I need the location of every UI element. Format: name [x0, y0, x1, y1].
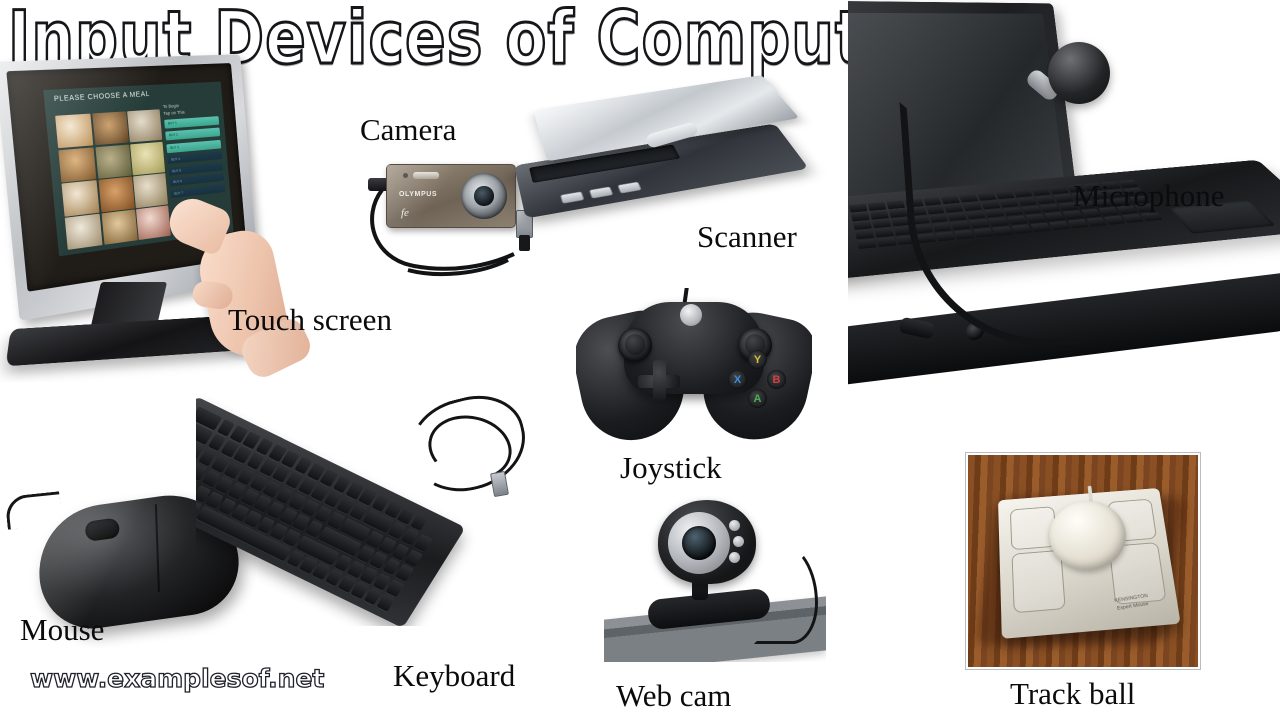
microphone-image [848, 0, 1280, 440]
webcam-led [733, 536, 744, 547]
webcam-led [729, 552, 740, 563]
trackball-button[interactable] [1012, 550, 1066, 613]
gamepad-guide-button[interactable] [680, 304, 702, 326]
track-ball-image: KENSINGTON Expert Mouse [965, 452, 1201, 670]
scanner-button-row[interactable] [560, 182, 642, 204]
kiosk-food-grid [56, 109, 171, 250]
dpad[interactable] [638, 360, 680, 402]
caption-joystick: Joystick [620, 450, 722, 486]
caption-scanner: Scanner [697, 219, 797, 255]
button-b[interactable]: B [767, 370, 786, 389]
button-x[interactable]: X [728, 370, 747, 389]
trackball-body: KENSINGTON Expert Mouse [998, 488, 1181, 639]
scanner-button[interactable] [617, 182, 642, 194]
kiosk-menu-button[interactable]: BUY 4 [167, 151, 222, 164]
caption-track-ball: Track ball [1010, 676, 1135, 712]
left-analog-stick[interactable] [618, 328, 652, 362]
web-cam-image [604, 496, 826, 662]
webcam-lens-ring [668, 512, 730, 574]
caption-keyboard: Keyboard [393, 658, 515, 694]
infographic-poster: Input Devices of Computer PLEASE CHOOSE … [0, 0, 1280, 720]
caption-camera: Camera [360, 112, 456, 148]
mouse-button-split [155, 504, 160, 592]
scroll-wheel[interactable] [84, 517, 120, 542]
webcam-head [658, 500, 756, 584]
caption-touch-screen: Touch screen [228, 302, 392, 338]
keyboard-image [196, 386, 526, 626]
button-y[interactable]: Y [748, 350, 767, 369]
caption-microphone: Microphone [1073, 178, 1225, 214]
kiosk-menu-button[interactable]: BUY 1 [164, 116, 219, 129]
joystick-image: Y X B A [576, 288, 812, 463]
caption-web-cam: Web cam [616, 678, 731, 714]
scanner-button[interactable] [560, 191, 585, 204]
microphone-head [1048, 42, 1110, 104]
keyboard-usb-connector [490, 471, 509, 497]
caption-mouse: Mouse [20, 612, 104, 648]
mouse-cable [6, 491, 63, 530]
desk-surface: KENSINGTON Expert Mouse [968, 455, 1198, 667]
webcam-lens [682, 526, 716, 560]
kiosk-menu-button[interactable]: BUY 2 [165, 128, 220, 141]
scanner-button[interactable] [589, 186, 614, 198]
site-watermark: www.examplesof.net [30, 664, 324, 693]
kiosk-menu-button[interactable]: BUY 3 [166, 140, 221, 153]
kiosk-menu-heading: To BeginTap on This [163, 101, 219, 116]
scanner-image [498, 66, 838, 236]
webcam-led [729, 520, 740, 531]
kiosk-heading: PLEASE CHOOSE A MEAL [54, 91, 150, 103]
button-a[interactable]: A [748, 389, 767, 408]
face-buttons[interactable]: Y X B A [728, 350, 786, 408]
